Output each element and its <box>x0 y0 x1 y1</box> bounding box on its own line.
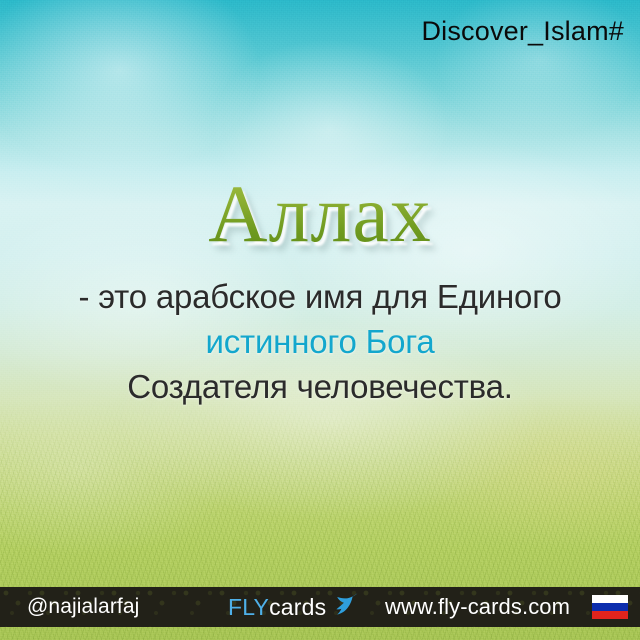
website-url[interactable]: www.fly-cards.com <box>385 594 570 620</box>
flycards-logo[interactable]: FLYcards <box>228 594 359 621</box>
author-handle[interactable]: @najialarfaj <box>27 595 139 619</box>
russia-flag-icon <box>592 595 628 620</box>
brand-cards-text: cards <box>269 594 326 621</box>
body-line-2-accent: истинного Бога <box>0 319 640 364</box>
flycard-image: Discover_Islam# Аллах - это арабское имя… <box>0 0 640 640</box>
flag-stripe-blue <box>592 603 628 611</box>
bird-icon <box>329 592 359 616</box>
card-content: Аллах - это арабское имя для Единого ист… <box>0 168 640 409</box>
body-line-1: - это арабское имя для Единого <box>0 274 640 319</box>
flag-stripe-red <box>592 611 628 619</box>
page-title: Аллах <box>0 168 640 260</box>
flag-stripe-white <box>592 595 628 603</box>
footer-bar: @najialarfaj FLYcards www.fly-cards.com <box>0 587 640 627</box>
brand-fly-text: FLY <box>228 594 269 621</box>
body-line-3: Создателя человечества. <box>0 364 640 409</box>
footer-content: @najialarfaj FLYcards www.fly-cards.com <box>0 587 640 627</box>
source-watermark: Discover_Islam# <box>421 14 624 48</box>
body-text: - это арабское имя для Единого истинного… <box>0 274 640 409</box>
